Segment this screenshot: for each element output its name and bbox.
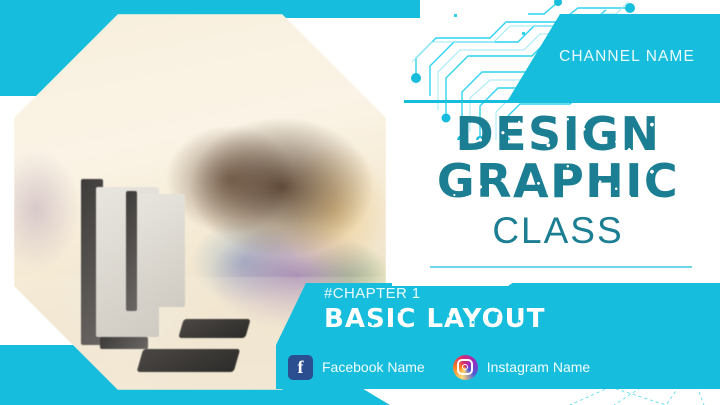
chapter-notch	[392, 270, 532, 286]
social-footer: f Facebook Name Instagram Name	[276, 345, 720, 389]
instagram-icon	[453, 355, 478, 380]
social-item-facebook[interactable]: f Facebook Name	[288, 355, 425, 380]
title-line-design: DESIGN	[396, 112, 720, 157]
keyboard-back	[179, 319, 251, 338]
facebook-icon: f	[288, 355, 313, 380]
thumbnail-canvas: CHANNEL NAME DESIGN GRAPHIC CLASS #CHAPT…	[0, 0, 720, 405]
instagram-icon-frame	[457, 359, 473, 375]
divider-top	[404, 100, 720, 103]
chapter-text-group: #CHAPTER 1 BASIC LAYOUT	[324, 286, 546, 333]
chapter-label: #CHAPTER 1	[324, 286, 546, 303]
main-title: DESIGN GRAPHIC CLASS	[396, 112, 720, 252]
title-line-graphic: GRAPHIC	[396, 159, 720, 204]
instagram-icon-lens	[462, 364, 468, 370]
chapter-title: BASIC LAYOUT	[324, 305, 546, 334]
monitor-front-stand	[100, 337, 148, 348]
divider-under-title	[430, 266, 692, 268]
keyboard-front	[137, 349, 240, 372]
facebook-name-label: Facebook Name	[322, 359, 425, 375]
social-item-instagram[interactable]: Instagram Name	[453, 355, 590, 380]
channel-name-label: CHANNEL NAME	[508, 14, 720, 100]
title-line-class: CLASS	[396, 210, 720, 252]
monitor-back-edge	[126, 191, 137, 311]
instagram-name-label: Instagram Name	[487, 359, 590, 375]
monitor-back-screen	[133, 194, 185, 307]
